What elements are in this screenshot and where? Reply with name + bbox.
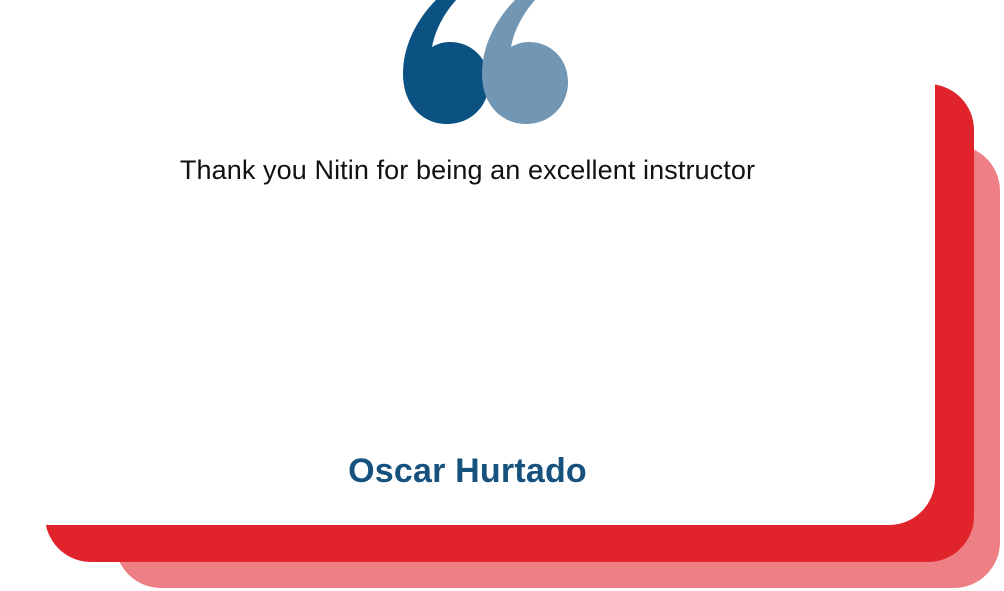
testimonial-quote-text: Thank you Nitin for being an excellent i… <box>0 152 935 188</box>
quote-glyph-right <box>482 0 568 124</box>
testimonial-author-name: Oscar Hurtado <box>0 452 935 491</box>
quote-glyph-left <box>403 0 489 124</box>
double-quote-icon <box>0 0 935 140</box>
testimonial-card-stage: Thank you Nitin for being an excellent i… <box>0 0 1004 591</box>
testimonial-card-surface: Thank you Nitin for being an excellent i… <box>0 0 935 525</box>
